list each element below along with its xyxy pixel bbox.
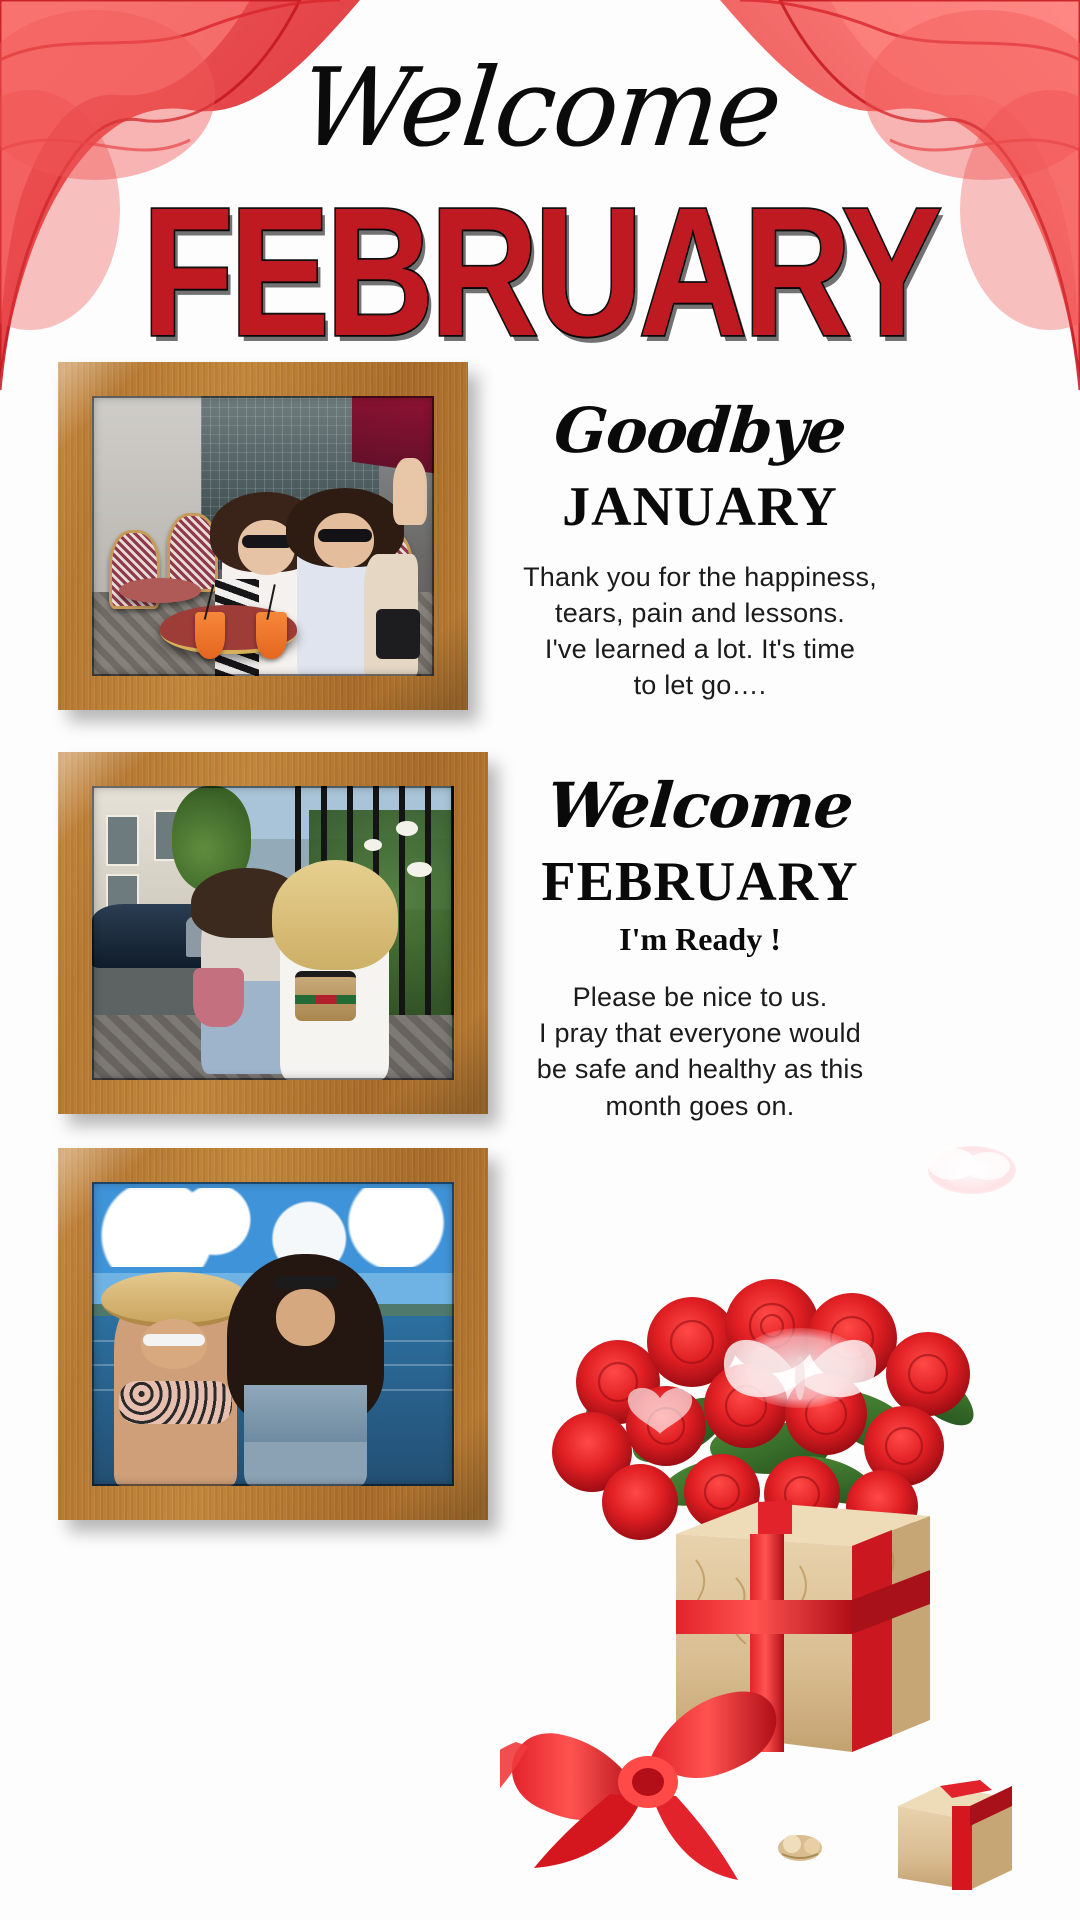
header-script-word: Welcome (0, 55, 1080, 163)
red-roses (552, 1279, 970, 1542)
building-window (106, 815, 139, 866)
polka-dot-top (119, 1381, 232, 1424)
white-butterfly-icon (928, 1146, 1016, 1194)
hair (272, 860, 398, 970)
february-heading: FEBRUARY (485, 853, 915, 912)
poster-canvas: Welcome FEBRUARY (0, 0, 1080, 1920)
roses-gift-bouquet (500, 1130, 1080, 1920)
body-line: Thank you for the happiness, (485, 559, 915, 595)
face (276, 1289, 335, 1346)
photo-frame-3[interactable] (58, 1148, 488, 1520)
january-body-copy: Thank you for the happiness, tears, pain… (485, 559, 915, 704)
welcome-february-text-block: Welcome FEBRUARY I'm Ready ! Please be n… (485, 775, 915, 1124)
small-gift-box (898, 1780, 1012, 1890)
body-line: month goes on. (485, 1088, 915, 1124)
goodbye-script-heading: Goodbye (482, 400, 917, 462)
peace-sign-hand (393, 458, 427, 525)
sunglasses-on-head-icon (274, 1276, 338, 1289)
gold-trinket (778, 1835, 822, 1861)
im-ready-line: I'm Ready ! (485, 922, 915, 957)
clouds (92, 1188, 454, 1267)
white-butterfly-large-icon (724, 1328, 876, 1408)
goodbye-january-text-block: Goodbye JANUARY Thank you for the happin… (485, 400, 915, 703)
denim-top (244, 1385, 367, 1442)
aperol-drink (256, 612, 287, 660)
white-blossom (396, 821, 418, 836)
photo-two-friends-boat (92, 1182, 454, 1486)
february-body-copy: Please be nice to us. I pray that everyo… (485, 979, 915, 1124)
body-line: Please be nice to us. (485, 979, 915, 1015)
rose-foliage (574, 1347, 984, 1515)
photo-frame-2[interactable] (58, 752, 488, 1114)
gift-box (676, 1500, 930, 1752)
body-line: I pray that everyone would (485, 1015, 915, 1051)
photo-two-friends-street (92, 786, 454, 1080)
body-line: to let go…. (485, 667, 915, 703)
body-line: tears, pain and lessons. (485, 595, 915, 631)
person-right (244, 1267, 367, 1486)
welcome-script-heading: Welcome (482, 775, 917, 837)
photo-two-friends-cafe (92, 396, 434, 676)
page-title: FEBRUARY (0, 180, 1080, 363)
body-line: be safe and healthy as this (485, 1051, 915, 1087)
pink-shoulder-bag (193, 968, 244, 1027)
designer-handbag (295, 971, 357, 1021)
january-heading: JANUARY (485, 478, 915, 537)
sunglasses-icon (143, 1334, 205, 1346)
white-blossom (364, 839, 382, 851)
poster-header: Welcome FEBRUARY (0, 0, 1080, 400)
aperol-drink (195, 612, 226, 660)
red-ribbon-bow (500, 1692, 776, 1880)
sunglasses-icon (318, 529, 372, 542)
photo-frame-1[interactable] (58, 362, 468, 710)
handbag (376, 609, 420, 659)
heart-sparkle (628, 1388, 692, 1434)
person-left (114, 1291, 237, 1486)
body-line: I've learned a lot. It's time (485, 631, 915, 667)
